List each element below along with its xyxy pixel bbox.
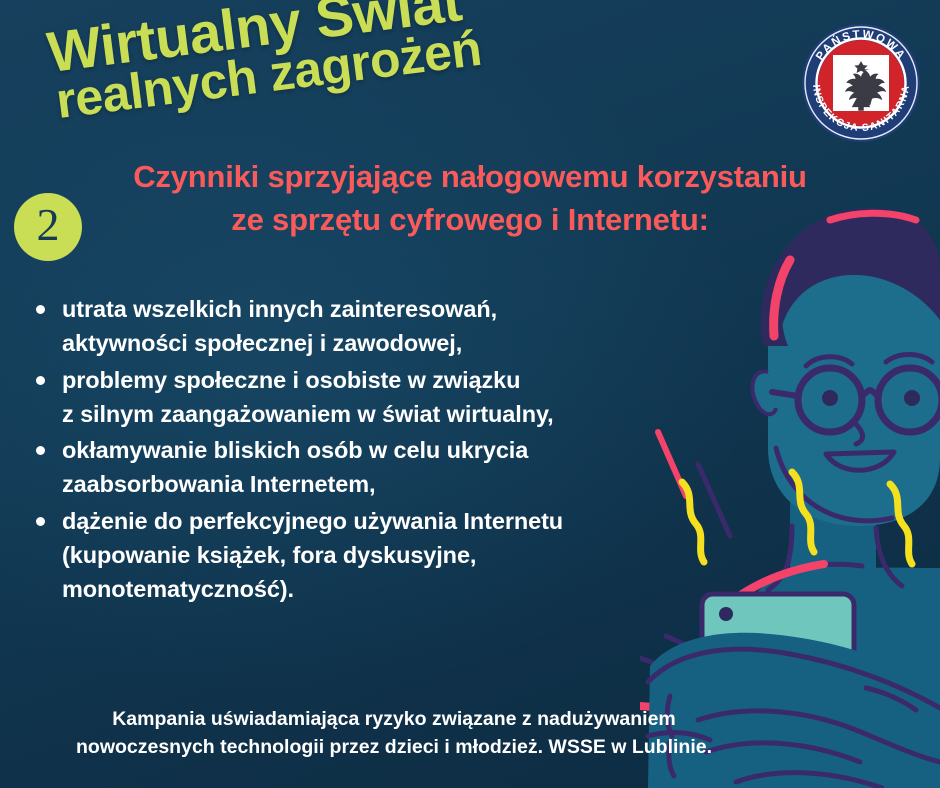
subtitle-line-2: ze sprzętu cyfrowego i Internetu: bbox=[60, 199, 880, 242]
factors-list: utrata wszelkich innych zainteresowań, a… bbox=[30, 292, 730, 609]
panstwowa-inspekcja-sanitarna-logo: PAŃSTWOWA INSPEKCJA SANITARNA bbox=[800, 22, 922, 144]
campaign-footer: Kampania uświadamiająca ryzyko związane … bbox=[14, 705, 774, 762]
footer-line-2: nowoczesnych technologii przez dzieci i … bbox=[14, 733, 774, 761]
bullet-dot-icon bbox=[36, 517, 45, 526]
list-item-text: problemy społeczne i osobiste w związku … bbox=[62, 367, 554, 427]
list-item-text: dążenie do perfekcyjnego używania Intern… bbox=[62, 508, 563, 603]
subtitle-line-1: Czynniki sprzyjające nałogowemu korzysta… bbox=[60, 156, 880, 199]
list-item: utrata wszelkich innych zainteresowań, a… bbox=[30, 292, 730, 361]
list-item: okłamywanie bliskich osób w celu ukrycia… bbox=[30, 433, 730, 502]
poster-root: Wirtualny Świat realnych zagrożeń PAŃSTW… bbox=[0, 0, 940, 788]
bullet-dot-icon bbox=[36, 376, 45, 385]
bullet-dot-icon bbox=[36, 305, 45, 314]
poster-title: Wirtualny Świat realnych zagrożeń bbox=[36, 16, 596, 146]
list-item: dążenie do perfekcyjnego używania Intern… bbox=[30, 504, 730, 607]
footer-line-1: Kampania uświadamiająca ryzyko związane … bbox=[14, 705, 774, 733]
list-item-text: okłamywanie bliskich osób w celu ukrycia… bbox=[62, 437, 528, 497]
list-item-text: utrata wszelkich innych zainteresowań, a… bbox=[62, 296, 497, 356]
subtitle-heading: Czynniki sprzyjające nałogowemu korzysta… bbox=[60, 156, 880, 242]
list-item: problemy społeczne i osobiste w związku … bbox=[30, 363, 730, 432]
bullet-dot-icon bbox=[36, 446, 45, 455]
badge-number: 2 bbox=[37, 202, 60, 252]
